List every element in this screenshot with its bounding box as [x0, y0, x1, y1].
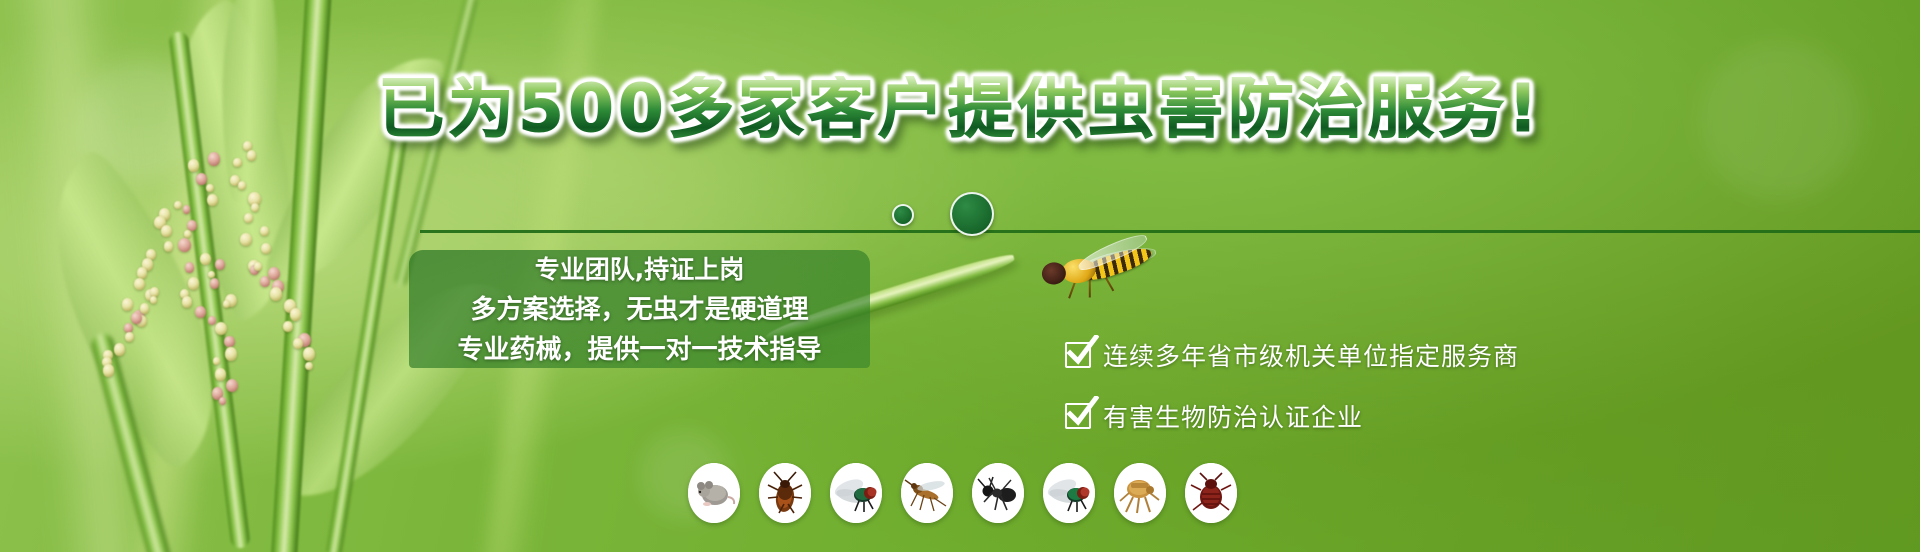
seed-bud — [208, 316, 216, 325]
mosquito-icon[interactable] — [901, 463, 953, 523]
slogan-panel: 专业团队,持证上岗 多方案选择，无虫才是硬道理 专业药械，提供一对一技术指导 — [409, 250, 870, 368]
seed-bud — [131, 312, 142, 324]
list-item: 有害生物防治认证企业 — [1065, 398, 1519, 434]
seed-bud — [254, 262, 262, 271]
pest-icon-row — [688, 463, 1237, 523]
list-item-label: 有害生物防治认证企业 — [1103, 398, 1363, 434]
seed-bud — [195, 306, 206, 318]
seed-bud — [206, 184, 214, 192]
seed-bud — [270, 287, 283, 301]
seed-bud — [164, 241, 173, 251]
seed-bud — [188, 159, 199, 172]
seed-bud — [219, 397, 227, 405]
list-item-label: 连续多年省市级机关单位指定服务商 — [1103, 337, 1519, 373]
seed-bud — [240, 233, 252, 246]
seed-bud — [114, 343, 125, 355]
seed-bud — [184, 230, 191, 238]
decor-dots — [884, 192, 1044, 238]
blowfly-icon[interactable] — [1043, 463, 1095, 523]
seed-bud — [224, 336, 234, 347]
seed-bud — [226, 379, 238, 392]
seed-bud — [150, 296, 157, 304]
seed-bud — [290, 308, 301, 321]
seed-bud — [137, 267, 147, 278]
seed-bud — [210, 278, 220, 289]
page-title: 已为500多家客户提供虫害防治服务! — [0, 76, 1920, 142]
decor-dot-large — [950, 192, 994, 236]
seed-bud — [185, 262, 194, 273]
slogan-line-2: 多方案选择，无虫才是硬道理 — [470, 289, 808, 326]
seed-bud — [225, 347, 237, 360]
seed-bud — [178, 238, 191, 252]
seed-bud — [244, 213, 253, 223]
seed-bud — [223, 300, 230, 308]
seed-bud — [305, 362, 313, 371]
list-item: 连续多年省市级机关单位指定服务商 — [1065, 337, 1519, 373]
seed-cluster — [150, 140, 380, 470]
decor-dot-small — [892, 204, 914, 226]
seed-bud — [215, 368, 226, 380]
horizontal-divider — [420, 230, 1920, 233]
checkbox-checked-icon — [1065, 403, 1091, 429]
seed-bud — [208, 152, 220, 166]
seed-bud — [261, 243, 271, 254]
bedbug-icon[interactable] — [1185, 463, 1237, 523]
seed-bud — [140, 303, 149, 313]
seed-bud — [260, 226, 269, 236]
seed-bud — [247, 150, 256, 161]
cockroach-icon[interactable] — [759, 463, 811, 523]
mouse-icon[interactable] — [688, 463, 740, 523]
credentials-list: 连续多年省市级机关单位指定服务商 有害生物防治认证企业 — [1065, 337, 1519, 434]
seed-bud — [213, 357, 220, 365]
seed-bud — [238, 181, 247, 191]
seed-bud — [215, 259, 225, 270]
seed-bud — [200, 253, 211, 265]
slogan-line-3: 专业药械，提供一对一技术指导 — [457, 329, 821, 366]
seed-bud — [125, 332, 133, 341]
seed-bud — [260, 276, 269, 286]
pest-control-banner: 已为500多家客户提供虫害防治服务! 专业团队,持证上岗 多方案选择，无虫才是硬… — [0, 0, 1920, 552]
seed-bud — [283, 321, 292, 331]
seed-bud — [183, 205, 190, 213]
seed-bud — [303, 347, 316, 361]
seed-bud — [215, 322, 227, 335]
fly-icon[interactable] — [830, 463, 882, 523]
seed-bud — [251, 203, 259, 212]
slogan-line-1: 专业团队,持证上岗 — [535, 250, 745, 286]
seed-bud — [207, 194, 218, 206]
seed-bud — [187, 220, 197, 231]
checkbox-checked-icon — [1065, 342, 1091, 368]
seed-bud — [268, 267, 280, 280]
seed-bud — [293, 338, 303, 349]
ant-icon[interactable] — [972, 463, 1024, 523]
seed-bud — [174, 201, 181, 209]
seed-bud — [188, 277, 200, 290]
seed-bud — [196, 173, 206, 185]
seed-bud — [182, 296, 192, 307]
seed-bud — [233, 158, 241, 167]
flea-icon[interactable] — [1114, 463, 1166, 523]
seed-bud — [122, 298, 133, 311]
seed-bud — [103, 364, 114, 376]
seed-bud — [161, 225, 171, 237]
